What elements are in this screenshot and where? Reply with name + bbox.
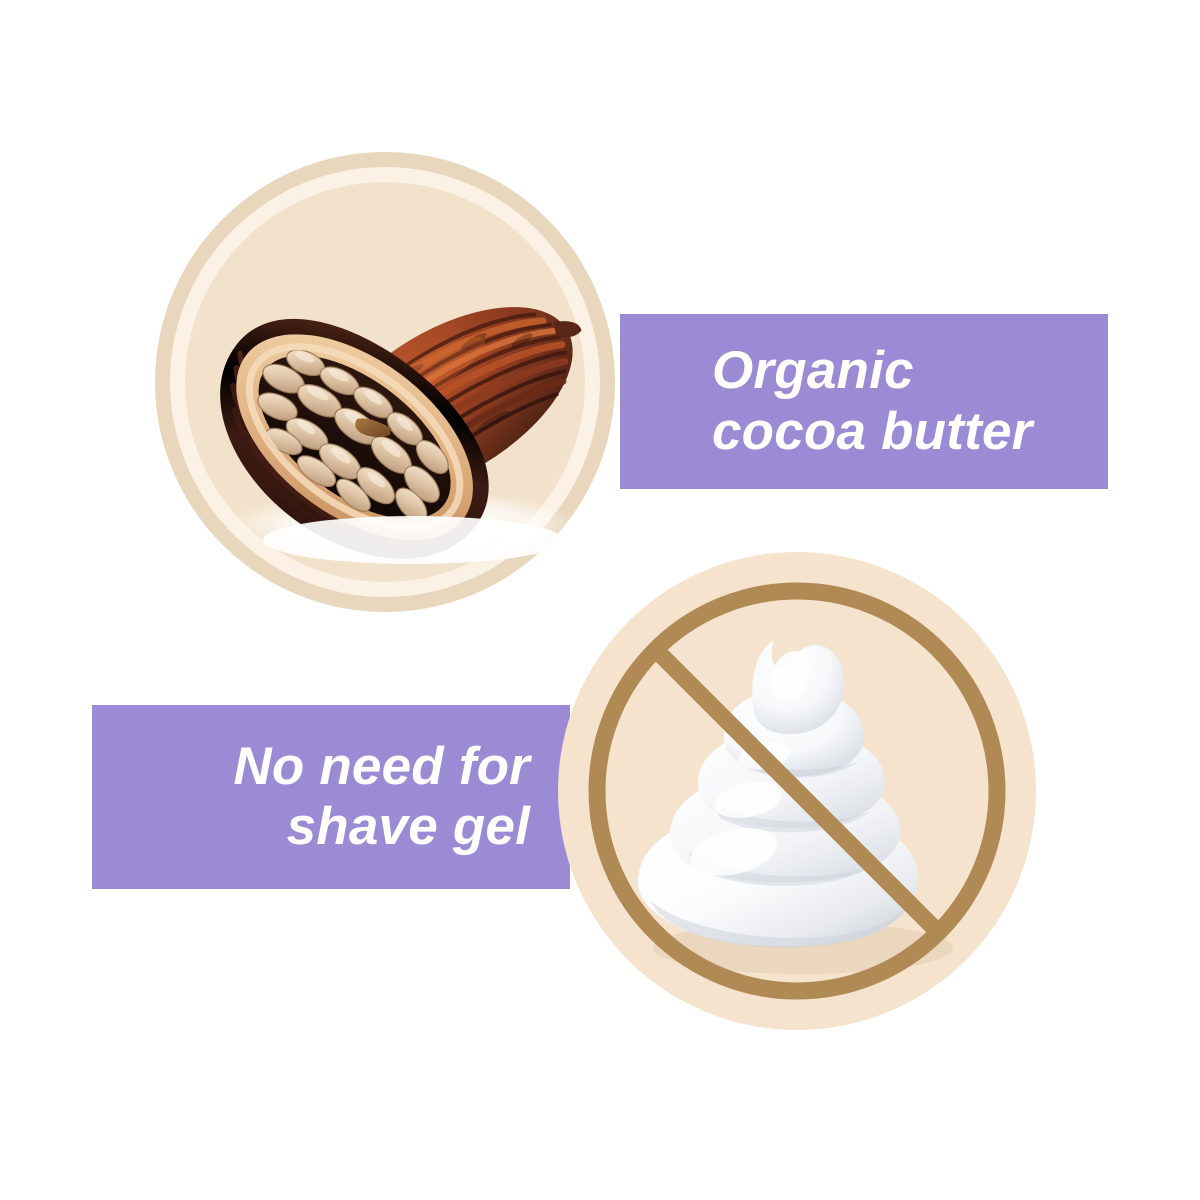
feature-label-no-shave-gel: No need for shave gel <box>233 737 530 858</box>
cocoa-pod-shadow <box>263 516 563 564</box>
feature-callout-graphic: Organic cocoa butter No need for shave g… <box>0 0 1200 1200</box>
feature-band-organic-cocoa-butter: Organic cocoa butter <box>620 314 1108 489</box>
feature-band-no-shave-gel: No need for shave gel <box>92 705 570 889</box>
feature-label-organic-cocoa-butter: Organic cocoa butter <box>712 341 1032 462</box>
no-shave-gel-icon <box>558 552 1036 1030</box>
cocoa-pod-icon <box>155 152 615 612</box>
